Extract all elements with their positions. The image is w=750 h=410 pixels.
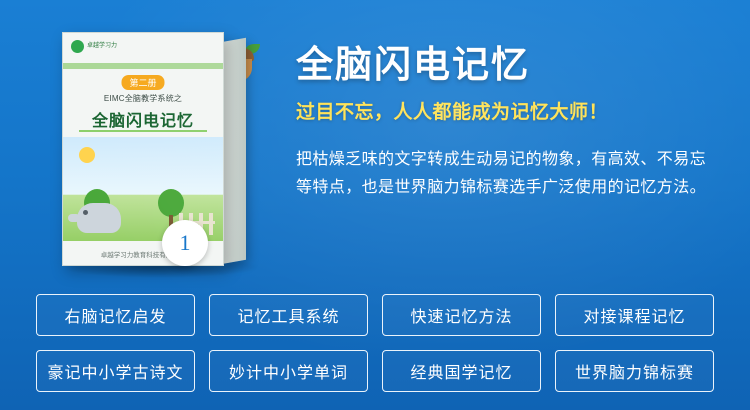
- subheadline: 过目不忘，人人都能成为记忆大师！: [296, 97, 726, 124]
- copy-block: 全脑闪电记忆 过目不忘，人人都能成为记忆大师！ 把枯燥乏味的文字转成生动易记的物…: [296, 46, 726, 202]
- feature-tag[interactable]: 豪记中小学古诗文: [36, 350, 195, 392]
- elephant-icon: [77, 203, 121, 233]
- promo-banner: 卓越学习力 第二册 EIMC全脑教学系统之 全脑闪电记忆 卓越学: [0, 0, 750, 410]
- feature-tag[interactable]: 快速记忆方法: [382, 294, 541, 336]
- feature-tag[interactable]: 对接课程记忆: [555, 294, 714, 336]
- box-divider: [79, 130, 207, 132]
- sun-icon: [79, 147, 95, 163]
- feature-tag[interactable]: 记忆工具系统: [209, 294, 368, 336]
- box-top-band: [63, 63, 223, 69]
- feature-tag[interactable]: 妙计中小学单词: [209, 350, 368, 392]
- box-volume-badge: 第二册: [121, 75, 164, 90]
- brand-mark-icon: [71, 40, 84, 53]
- headline: 全脑闪电记忆: [296, 46, 726, 85]
- feature-tag[interactable]: 世界脑力锦标赛: [555, 350, 714, 392]
- brand-logo: 卓越学习力: [71, 40, 117, 53]
- brand-logo-text: 卓越学习力: [87, 43, 117, 50]
- description-text: 把枯燥乏味的文字转成生动易记的物象，有高效、不易忘等特点，也是世界脑力锦标赛选手…: [296, 146, 716, 202]
- product-image-area: 卓越学习力 第二册 EIMC全脑教学系统之 全脑闪电记忆 卓越学: [42, 24, 292, 274]
- box-spine: [222, 38, 246, 264]
- box-subtitle: EIMC全脑教学系统之: [63, 93, 223, 104]
- feature-tag[interactable]: 右脑记忆启发: [36, 294, 195, 336]
- feature-tag[interactable]: 经典国学记忆: [382, 350, 541, 392]
- feature-tag-grid: 右脑记忆启发 记忆工具系统 快速记忆方法 对接课程记忆 豪记中小学古诗文 妙计中…: [36, 294, 714, 392]
- box-title: 全脑闪电记忆: [63, 107, 223, 131]
- volume-number-badge: 1: [162, 220, 208, 266]
